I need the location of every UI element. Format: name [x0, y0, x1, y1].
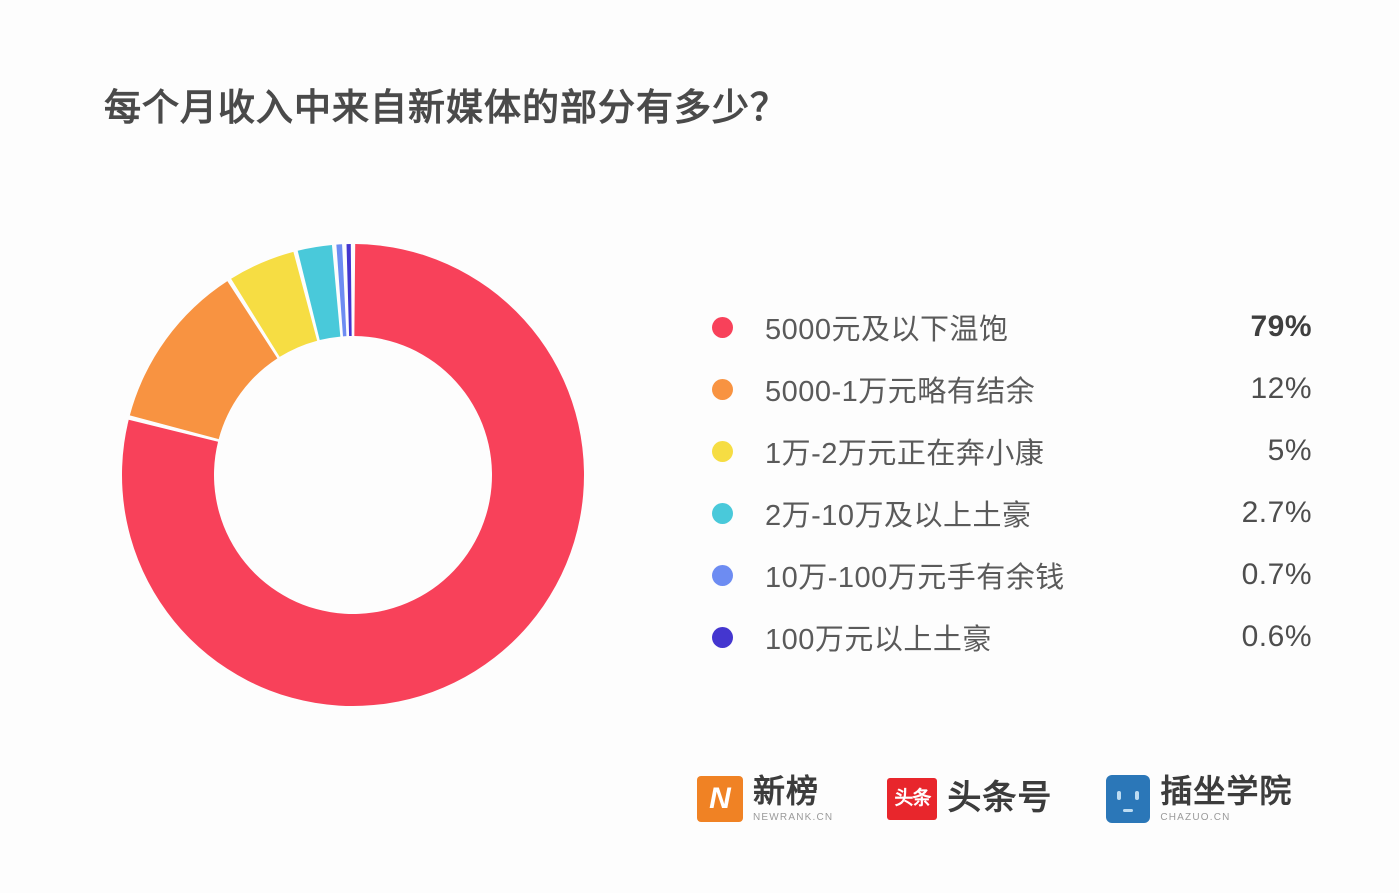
legend-item-value: 5% [1192, 434, 1312, 468]
legend-item[interactable]: 5000元及以下温饱79% [712, 296, 1312, 358]
logo-newrank: N 新榜 NEWRANK.CN [697, 775, 833, 823]
legend-item-label: 10万-100万元手有余钱 [765, 554, 1192, 596]
chazuo-mouth [1123, 809, 1133, 812]
donut-chart [118, 240, 588, 710]
footer-logos: N 新榜 NEWRANK.CN 头条 头条号 插坐学院 CHAZU [697, 775, 1292, 823]
chart-page: 每个月收入中来自新媒体的部分有多少？ 5000元及以下温饱79%5000-1万元… [0, 0, 1399, 893]
toutiaohao-text: 头条号 [947, 781, 1052, 817]
legend-item-label: 5000元及以下温饱 [765, 306, 1192, 348]
chazuo-eye-right [1135, 791, 1139, 800]
page-title: 每个月收入中来自新媒体的部分有多少？ [104, 86, 788, 130]
legend-color-dot-icon [712, 441, 733, 462]
legend-item-label: 1万-2万元正在奔小康 [765, 430, 1192, 472]
newrank-sub: NEWRANK.CN [753, 812, 833, 823]
legend-item[interactable]: 10万-100万元手有余钱0.7% [712, 544, 1312, 606]
chazuo-mark-icon [1106, 775, 1150, 823]
donut-slice-group [122, 244, 584, 706]
newrank-mark-icon: N [697, 776, 743, 822]
legend-color-dot-icon [712, 317, 733, 338]
legend-item[interactable]: 100万元以上土豪0.6% [712, 606, 1312, 668]
legend-item-value: 0.7% [1192, 558, 1312, 592]
donut-slice[interactable] [347, 244, 352, 336]
toutiao-glyph: 头条 [894, 789, 930, 809]
chazuo-sub: CHAZUO.CN [1160, 812, 1292, 823]
legend-color-dot-icon [712, 565, 733, 586]
legend-item-value: 2.7% [1192, 496, 1312, 530]
legend-item-label: 2万-10万及以上土豪 [765, 492, 1192, 534]
legend-item-value: 0.6% [1192, 620, 1312, 654]
legend-color-dot-icon [712, 503, 733, 524]
newrank-glyph: N [709, 784, 731, 814]
legend-item[interactable]: 5000-1万元略有结余12% [712, 358, 1312, 420]
legend-item[interactable]: 2万-10万及以上土豪2.7% [712, 482, 1312, 544]
legend-item-value: 12% [1192, 372, 1312, 406]
chart-legend: 5000元及以下温饱79%5000-1万元略有结余12%1万-2万元正在奔小康5… [712, 296, 1312, 668]
logo-toutiaohao: 头条 头条号 [887, 778, 1052, 820]
legend-item-label: 100万元以上土豪 [765, 616, 1192, 658]
legend-item[interactable]: 1万-2万元正在奔小康5% [712, 420, 1312, 482]
newrank-text: 新榜 NEWRANK.CN [753, 775, 833, 823]
chazuo-text: 插坐学院 CHAZUO.CN [1160, 775, 1292, 823]
legend-item-label: 5000-1万元略有结余 [765, 368, 1192, 410]
chazuo-eye-left [1117, 791, 1121, 800]
newrank-name: 新榜 [753, 775, 833, 809]
logo-chazuo: 插坐学院 CHAZUO.CN [1106, 775, 1292, 823]
legend-color-dot-icon [712, 627, 733, 648]
legend-item-value: 79% [1192, 310, 1312, 344]
toutiaohao-name: 头条号 [947, 781, 1052, 817]
toutiao-mark-icon: 头条 [887, 778, 937, 820]
legend-color-dot-icon [712, 379, 733, 400]
donut-chart-svg [118, 240, 588, 710]
chazuo-name: 插坐学院 [1160, 775, 1292, 809]
